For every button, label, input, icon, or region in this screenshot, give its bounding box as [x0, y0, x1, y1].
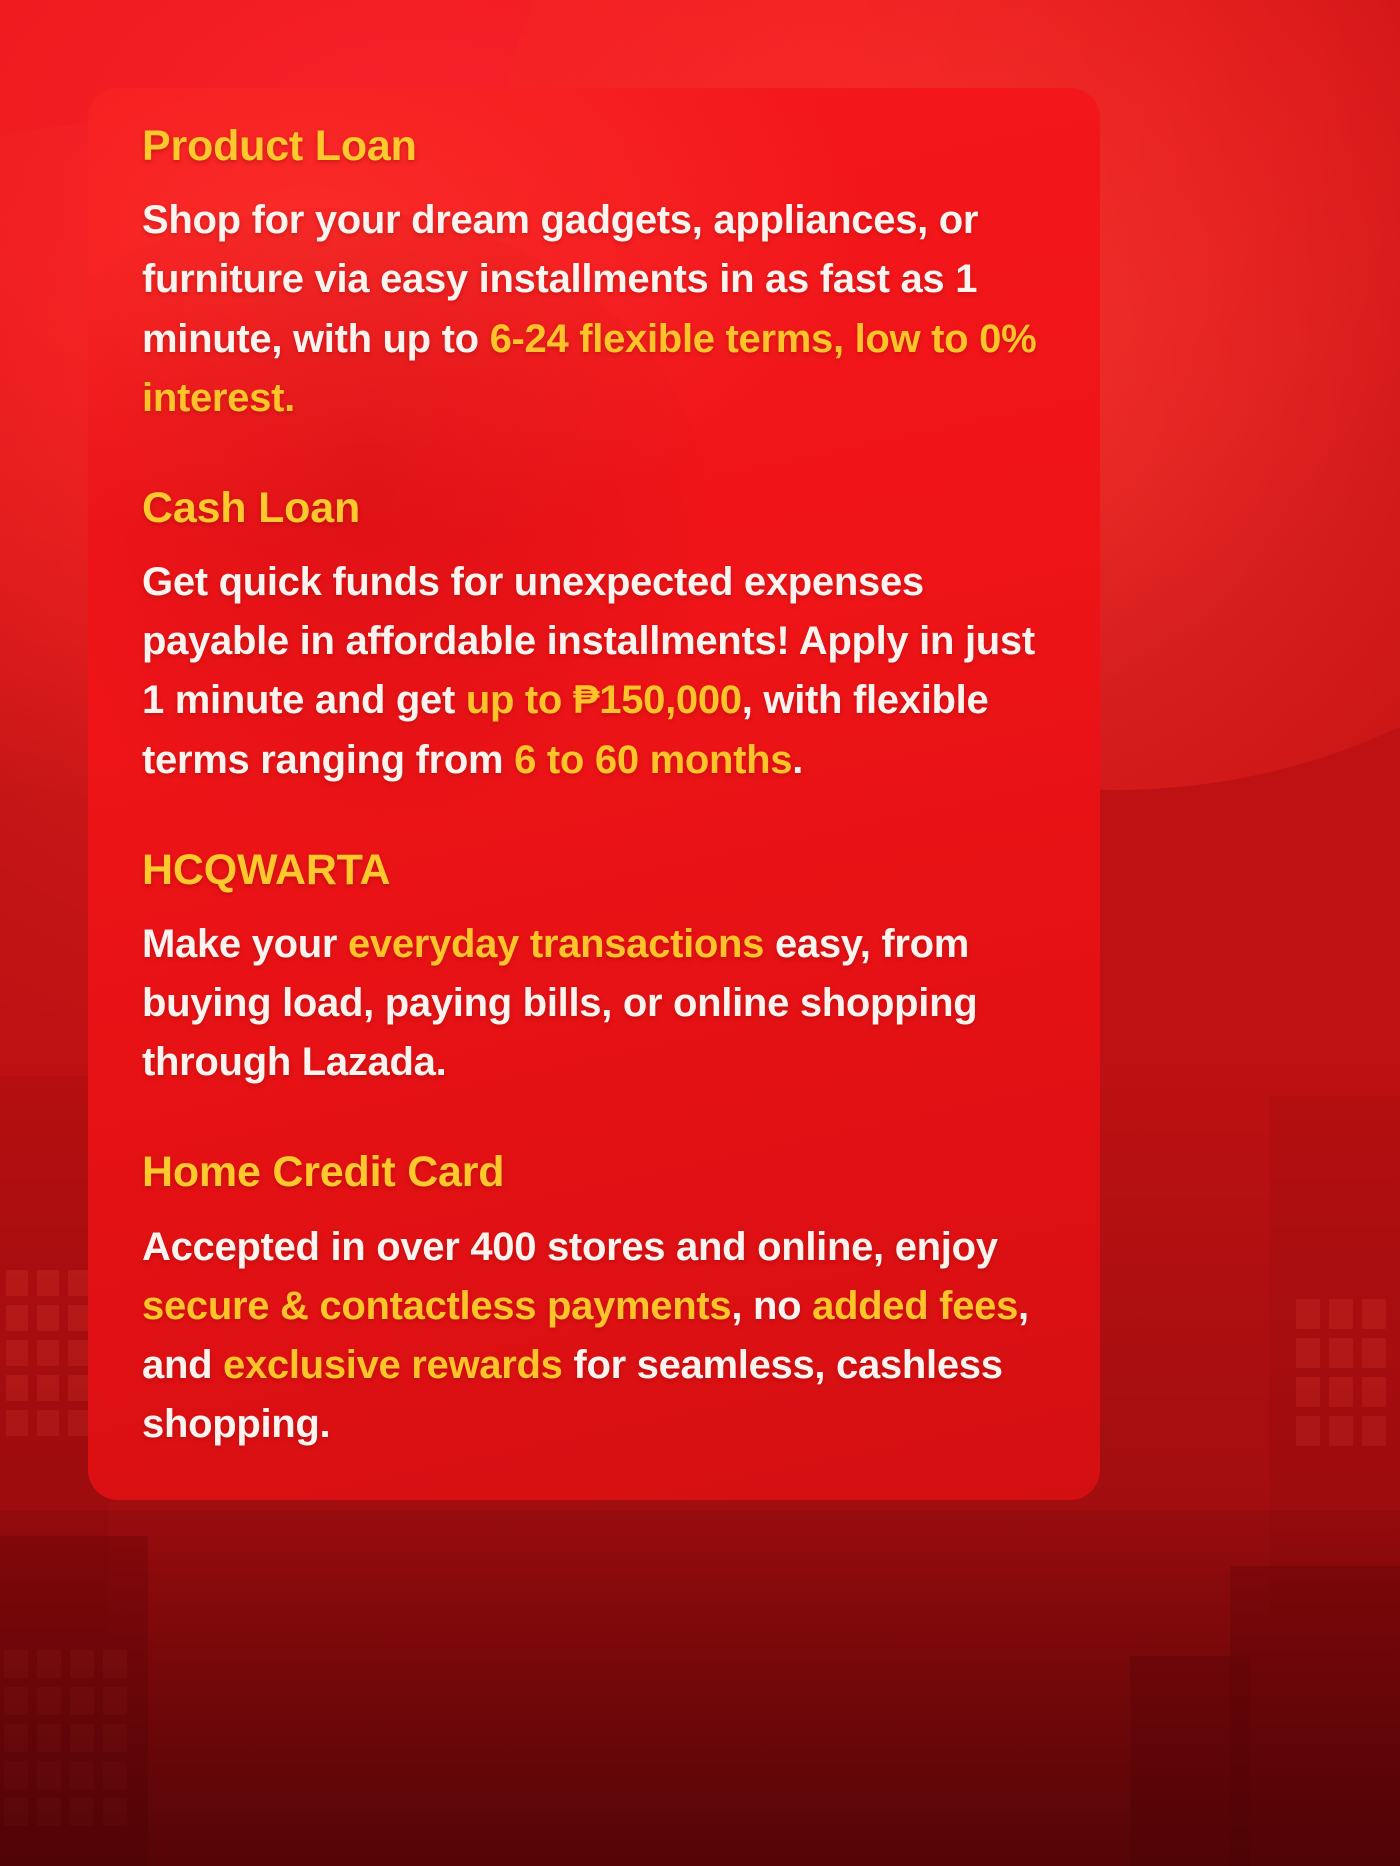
highlighted-text: up to ₱150,000 [466, 678, 742, 722]
section-body: Make your everyday transactions easy, fr… [142, 915, 1046, 1093]
section-title: HCQWARTA [142, 848, 1046, 893]
section-cash-loan: Cash Loan Get quick funds for unexpected… [142, 486, 1046, 790]
body-text: . [792, 738, 803, 782]
section-title: Home Credit Card [142, 1150, 1046, 1195]
product-info-card: Product Loan Shop for your dream gadgets… [88, 88, 1100, 1500]
section-body: Accepted in over 400 stores and online, … [142, 1218, 1046, 1455]
highlighted-text: exclusive rewards [223, 1343, 563, 1387]
section-home-credit-card: Home Credit Card Accepted in over 400 st… [142, 1150, 1046, 1454]
section-hcqwarta: HCQWARTA Make your everyday transactions… [142, 848, 1046, 1093]
card-content: Product Loan Shop for your dream gadgets… [142, 124, 1046, 1454]
highlighted-text: everyday transactions [348, 922, 764, 966]
section-title: Cash Loan [142, 486, 1046, 531]
section-product-loan: Product Loan Shop for your dream gadgets… [142, 124, 1046, 428]
section-body: Shop for your dream gadgets, appliances,… [142, 191, 1046, 428]
body-text: Make your [142, 922, 348, 966]
highlighted-text: added fees [812, 1284, 1018, 1328]
body-text: , no [731, 1284, 812, 1328]
highlighted-text: 6 to 60 months [514, 738, 792, 782]
highlighted-text: secure & contactless payments [142, 1284, 731, 1328]
section-body: Get quick funds for unexpected expenses … [142, 553, 1046, 790]
body-text: Accepted in over 400 stores and online, … [142, 1225, 998, 1269]
section-title: Product Loan [142, 124, 1046, 169]
